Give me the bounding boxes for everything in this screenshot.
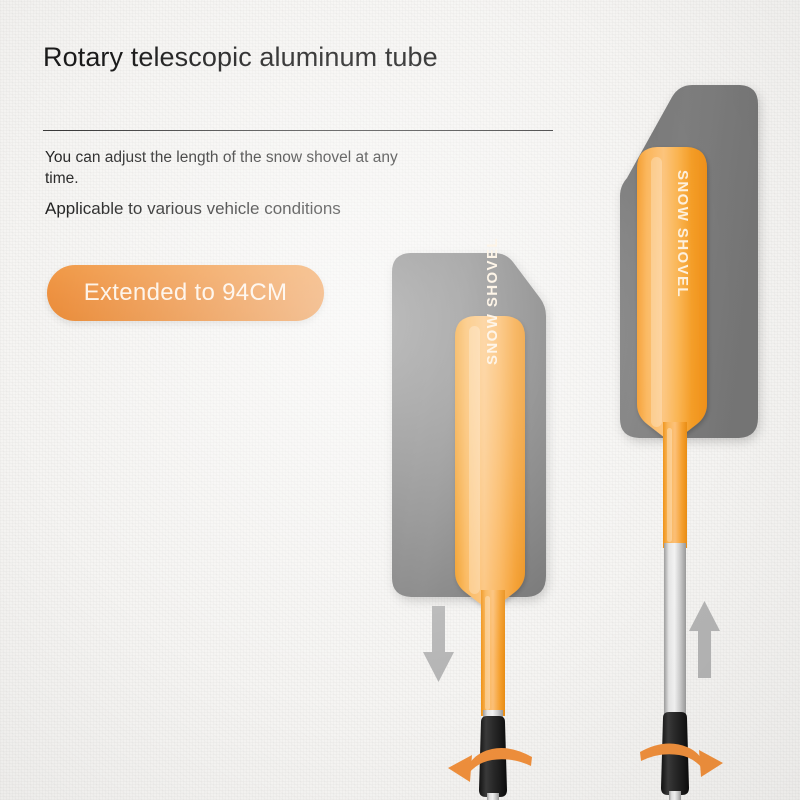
shovel-right-silver-tube <box>664 543 686 715</box>
shovel-left-lower-tube <box>487 793 499 800</box>
shovel-left-handle-highlight <box>469 326 480 594</box>
up-arrow-icon <box>689 601 720 678</box>
snow-shovel-illustration: SNOW SHOVEL <box>0 0 800 800</box>
shovel-left: SNOW SHOVEL <box>392 237 546 800</box>
shovel-right-handle-highlight <box>651 157 662 427</box>
shovel-left-handle-label: SNOW SHOVEL <box>484 237 501 365</box>
title-divider <box>43 130 553 131</box>
product-infographic: SNOW SHOVEL <box>0 0 800 800</box>
subhead-text: Applicable to various vehicle conditions <box>45 198 375 221</box>
shovel-right-lower-tube <box>669 791 681 800</box>
description-text: You can adjust the length of the snow sh… <box>45 148 400 190</box>
shovel-right: SNOW SHOVEL <box>620 85 758 800</box>
shovel-right-handle-upper <box>637 147 707 438</box>
down-arrow-icon <box>423 606 454 682</box>
shovel-right-barrel-highlight <box>667 428 672 542</box>
shovel-right-handle-barrel <box>663 422 687 548</box>
shovel-right-handle-label: SNOW SHOVEL <box>674 170 691 298</box>
shovel-left-barrel-highlight <box>485 596 490 710</box>
page-title: Rotary telescopic aluminum tube <box>43 40 473 76</box>
extended-length-badge-label: Extended to 94CM <box>84 279 288 307</box>
shovel-left-handle-barrel <box>481 590 505 716</box>
extended-length-badge: Extended to 94CM <box>47 265 324 321</box>
